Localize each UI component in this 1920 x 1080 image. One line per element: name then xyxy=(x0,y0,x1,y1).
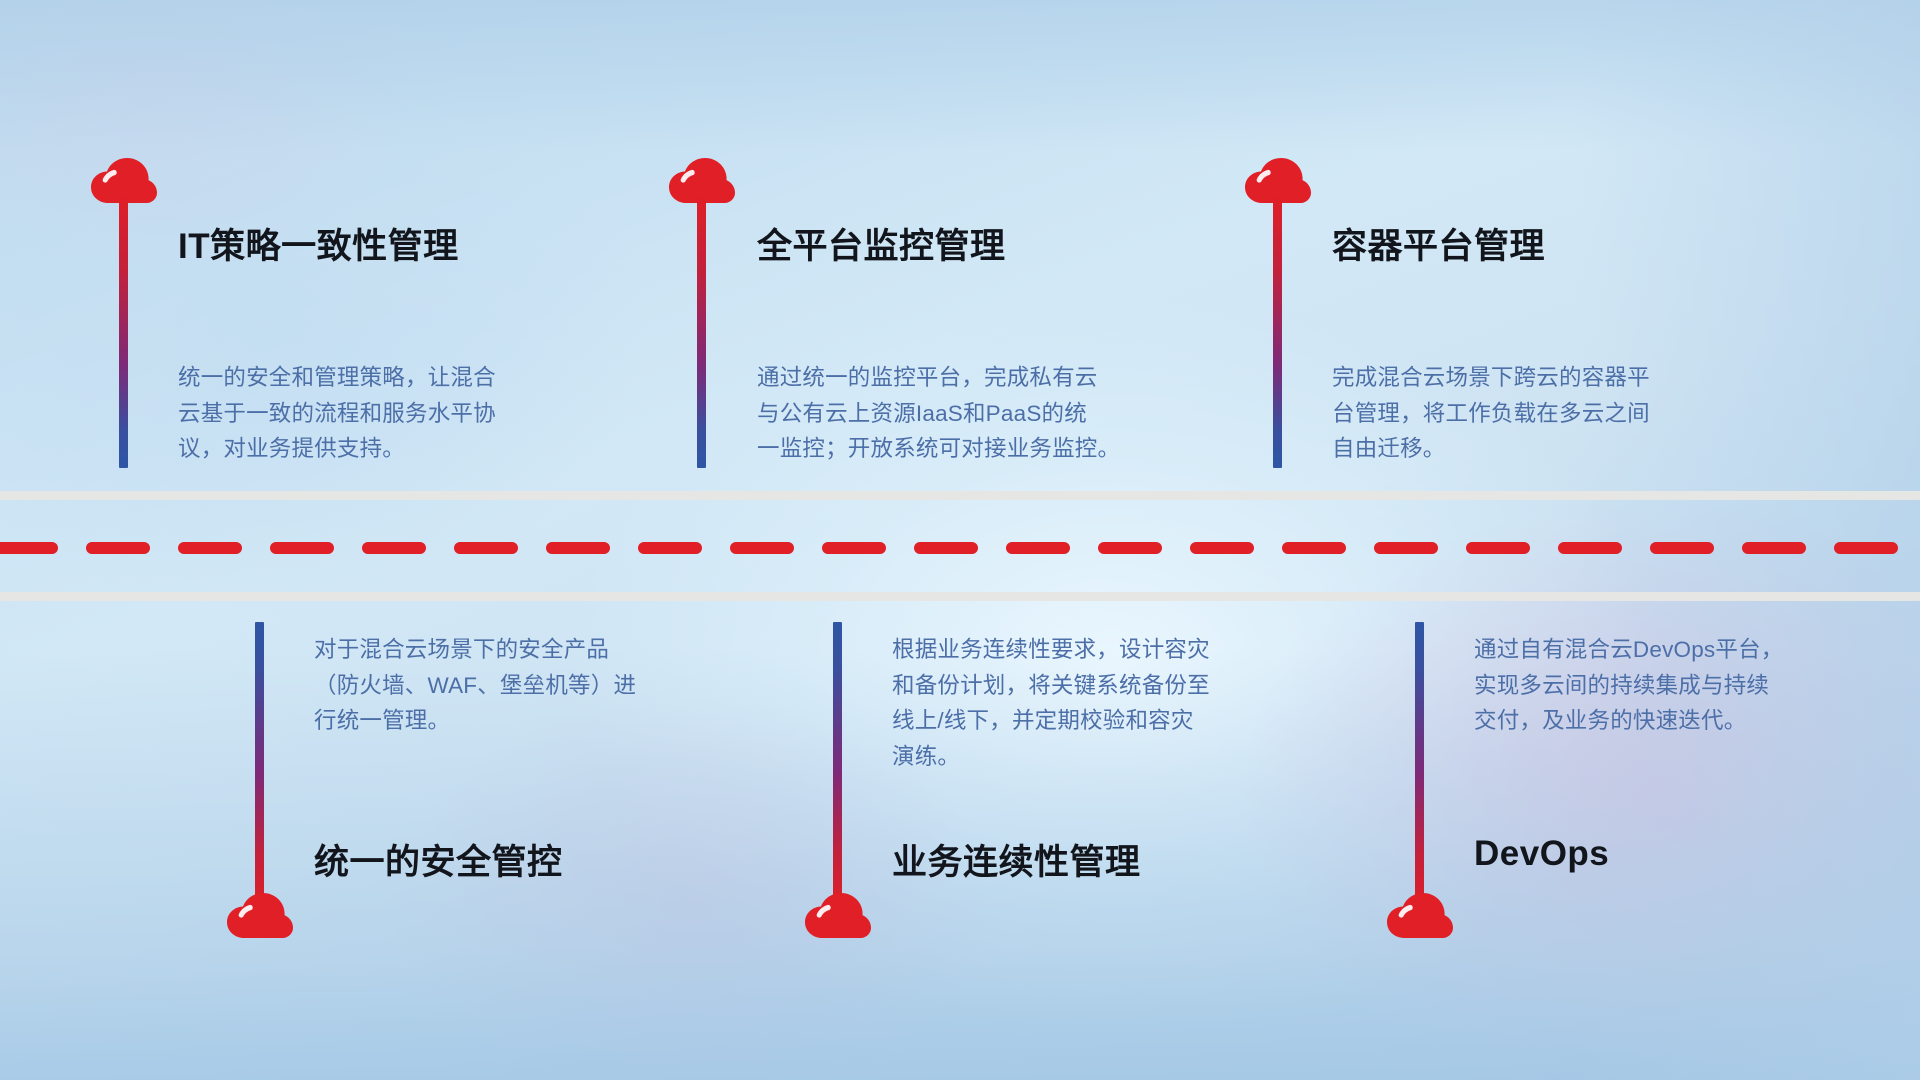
timeline-bar xyxy=(255,622,264,910)
item-description: 对于混合云场景下的安全产品 （防火墙、WAF、堡垒机等）进 行统一管理。 xyxy=(314,632,734,739)
cloud-icon xyxy=(1387,893,1453,939)
item-description: 通过统一的监控平台，完成私有云 与公有云上资源IaaS和PaaS的统 一监控；开… xyxy=(757,360,1197,467)
item-description: 根据业务连续性要求，设计容灾 和备份计划，将关键系统备份至 线上/线下，并定期校… xyxy=(892,632,1322,774)
item-title: IT策略一致性管理 xyxy=(178,218,459,269)
timeline-bar xyxy=(1273,196,1282,468)
item-title: DevOps xyxy=(1474,834,1609,874)
cloud-icon xyxy=(227,893,293,939)
item-title: 容器平台管理 xyxy=(1332,218,1545,269)
item-title: 全平台监控管理 xyxy=(757,218,1006,269)
item-title: 业务连续性管理 xyxy=(892,834,1141,885)
timeline-bar xyxy=(833,622,842,910)
road-rail-lower xyxy=(0,592,1920,601)
cloud-icon xyxy=(805,893,871,939)
road-rail-upper xyxy=(0,491,1920,500)
item-description: 通过自有混合云DevOps平台， 实现多云间的持续集成与持续 交付，及业务的快速… xyxy=(1474,632,1894,739)
timeline-bar xyxy=(697,196,706,468)
item-description: 统一的安全和管理策略，让混合 云基于一致的流程和服务水平协 议，对业务提供支持。 xyxy=(178,360,608,467)
item-description: 完成混合云场景下跨云的容器平 台管理，将工作负载在多云之间 自由迁移。 xyxy=(1332,360,1772,467)
timeline-bar xyxy=(1415,622,1424,910)
timeline-bar xyxy=(119,196,128,468)
item-title: 统一的安全管控 xyxy=(314,834,563,885)
road-dashed-center-line xyxy=(0,541,1920,553)
